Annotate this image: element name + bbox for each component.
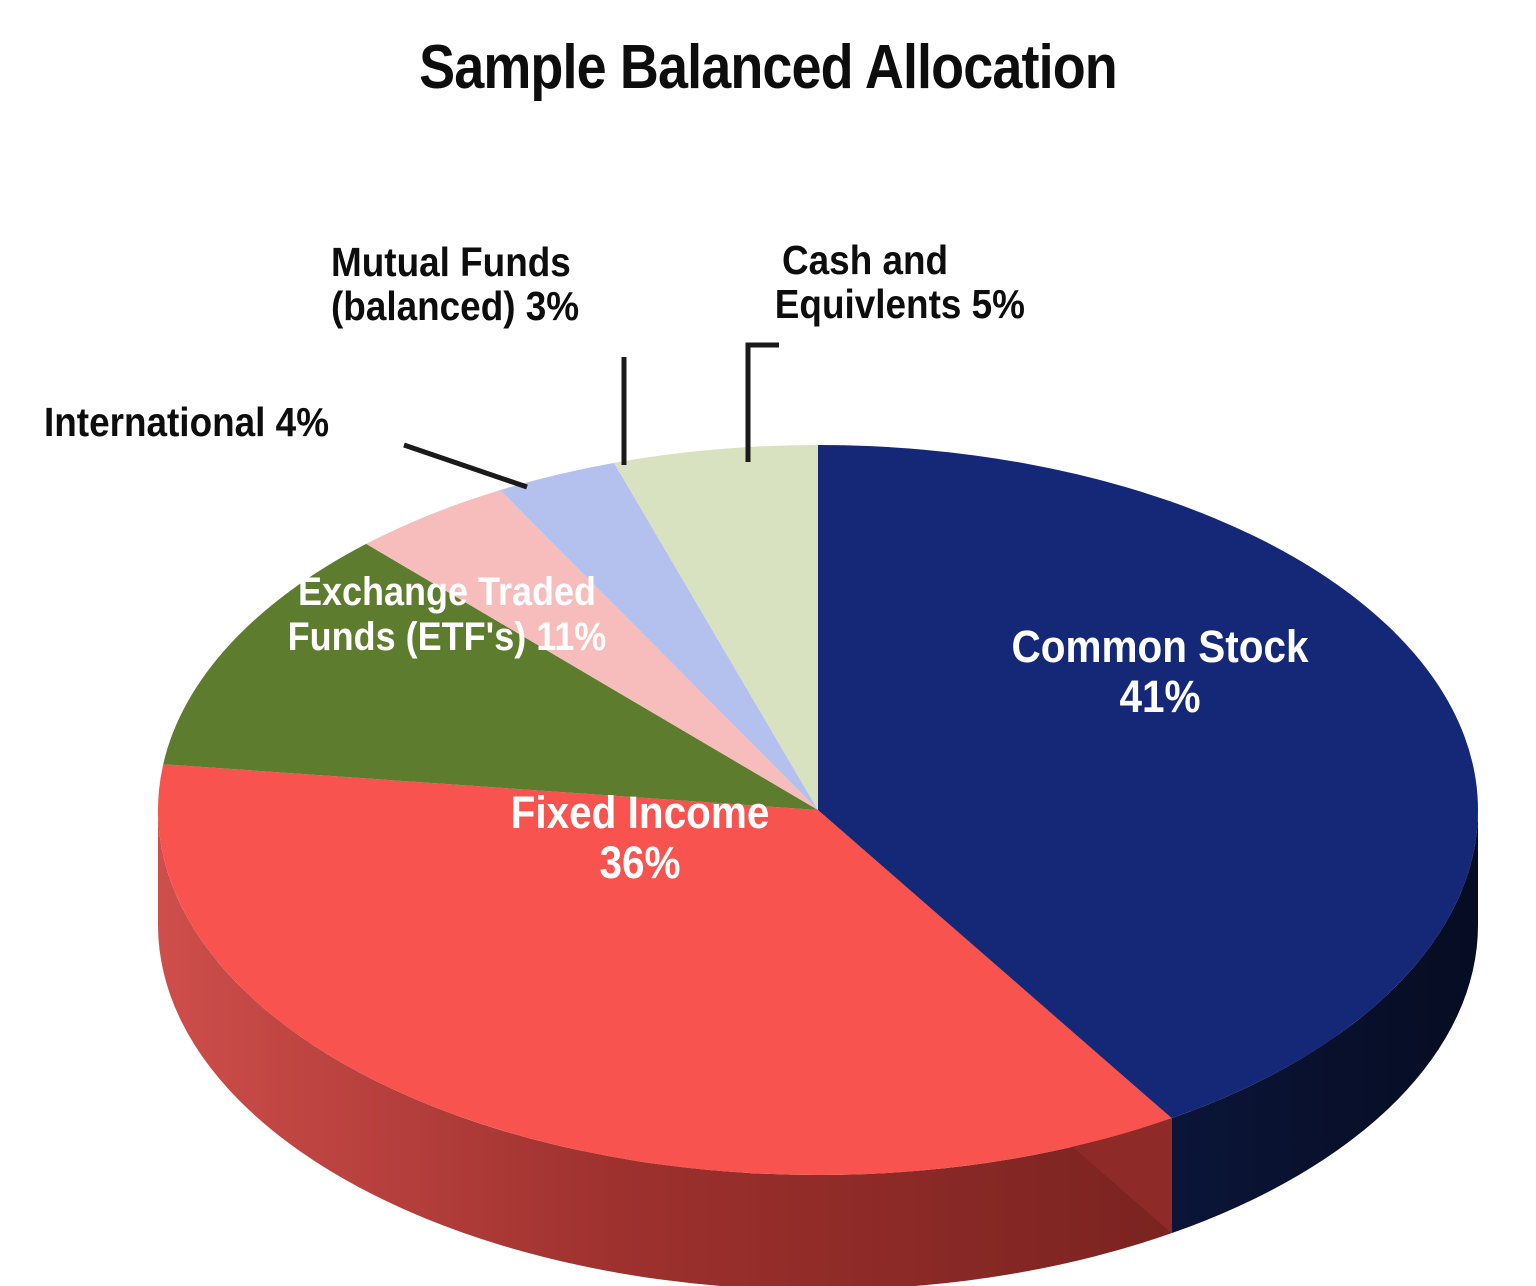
callout-mutual-funds: Mutual Funds (balanced) 3%: [331, 240, 579, 329]
slice-label-fixed-income-line1: Fixed Income: [511, 787, 770, 838]
slice-label-common-stock: Common Stock 41%: [953, 622, 1367, 723]
leader-line-cash: [748, 345, 779, 462]
slice-label-etf-line2: Funds (ETF's) 11%: [288, 615, 607, 659]
callout-international: International 4%: [44, 400, 329, 444]
slice-label-common-stock-line1: Common Stock: [1011, 621, 1308, 672]
slice-label-common-stock-line2: 41%: [1119, 671, 1200, 722]
leader-line-international: [404, 445, 527, 487]
callout-cash-line2: Equivlents 5%: [775, 282, 1025, 326]
slice-label-fixed-income-line2: 36%: [599, 837, 680, 888]
callout-international-line1: International 4%: [44, 399, 329, 445]
chart-canvas: Sample Balanced Allocation Mutual Funds …: [0, 0, 1536, 1286]
callout-cash-and-equivalents: Cash and Equivlents 5%: [782, 238, 1025, 327]
callout-mutual-funds-line2: (balanced) 3%: [331, 284, 579, 328]
slice-label-etf-line1: Exchange Traded: [298, 570, 596, 614]
callout-mutual-funds-line1: Mutual Funds: [331, 239, 571, 285]
slice-label-fixed-income: Fixed Income 36%: [451, 788, 829, 889]
callout-cash-line1: Cash and: [782, 237, 948, 283]
slice-label-etf: Exchange Traded Funds (ETF's) 11%: [281, 570, 614, 660]
